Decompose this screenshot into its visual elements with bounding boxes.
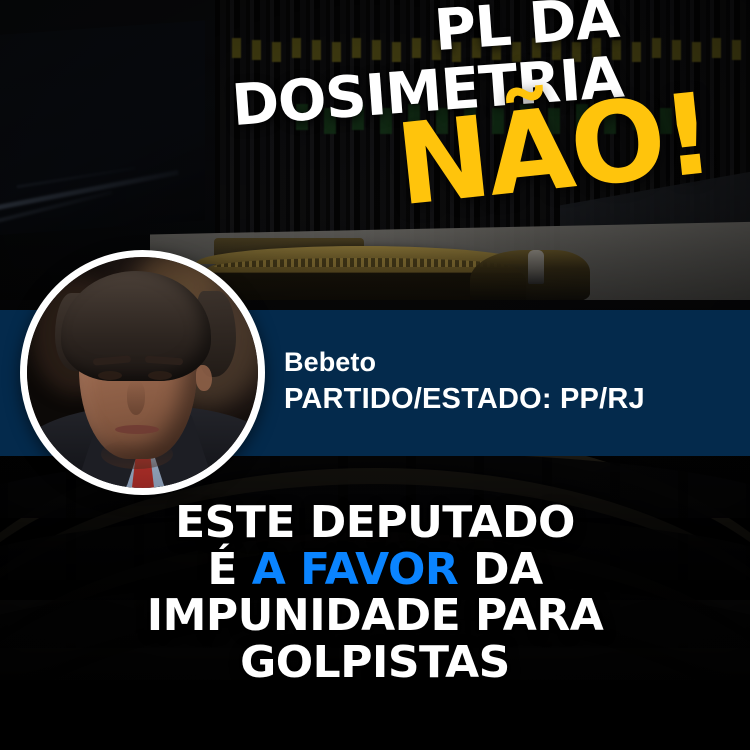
portrait-chin-shadow	[101, 439, 173, 469]
portrait-mouth	[115, 425, 159, 434]
deputy-banner-text: Bebeto PARTIDO/ESTADO: PP/RJ	[284, 347, 645, 416]
deputy-name: Bebeto	[284, 347, 645, 379]
portrait-ear	[196, 365, 212, 391]
deputy-portrait-avatar	[20, 250, 265, 495]
portrait-nose	[127, 381, 145, 415]
portrait-eye	[148, 371, 172, 380]
portrait-eye	[98, 371, 122, 380]
portrait-image	[27, 257, 258, 488]
deputy-party-state: PARTIDO/ESTADO: PP/RJ	[284, 382, 645, 416]
campaign-poster: PL DA DOSIMETRIA NÃO! Bebeto PARTIDO/EST…	[0, 0, 750, 750]
